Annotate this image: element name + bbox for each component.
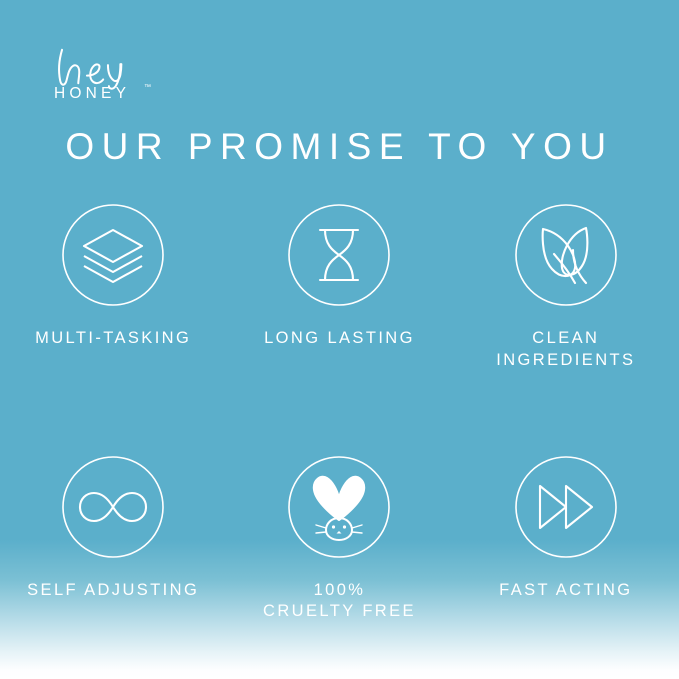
promise-item-multi-tasking: MULTI-TASKING — [0, 196, 226, 372]
page-title: OUR PROMISE TO YOU — [0, 125, 679, 169]
brand-logo: HONEY ™ — [52, 46, 202, 108]
stacked-layers-icon — [54, 196, 172, 314]
promise-row-2: SELF ADJUSTING — [0, 448, 679, 624]
trademark-symbol: ™ — [144, 84, 151, 91]
promise-label: CLEAN INGREDIENTS — [496, 328, 635, 372]
promise-label: SELF ADJUSTING — [27, 580, 199, 602]
promise-item-cruelty-free: 100% CRUELTY FREE — [226, 448, 452, 624]
promise-item-self-adjusting: SELF ADJUSTING — [0, 448, 226, 624]
promise-poster: HONEY ™ OUR PROMISE TO YOU MULTI-TASKING — [0, 0, 679, 679]
promise-label: LONG LASTING — [264, 328, 415, 350]
promise-label: MULTI-TASKING — [35, 328, 191, 350]
brand-wordmark: HONEY — [54, 86, 130, 102]
promise-label: 100% CRUELTY FREE — [263, 580, 416, 624]
promise-row-1: MULTI-TASKING LONG LASTING — [0, 196, 679, 372]
promise-label: FAST ACTING — [499, 580, 632, 602]
fast-forward-icon — [507, 448, 625, 566]
infinity-icon — [54, 448, 172, 566]
promise-item-clean-ingredients: CLEAN INGREDIENTS — [453, 196, 679, 372]
promise-item-long-lasting: LONG LASTING — [226, 196, 452, 372]
bunny-heart-icon — [280, 448, 398, 566]
hourglass-icon — [280, 196, 398, 314]
leaves-icon — [507, 196, 625, 314]
promise-grid: MULTI-TASKING LONG LASTING — [0, 196, 679, 623]
promise-item-fast-acting: FAST ACTING — [453, 448, 679, 624]
